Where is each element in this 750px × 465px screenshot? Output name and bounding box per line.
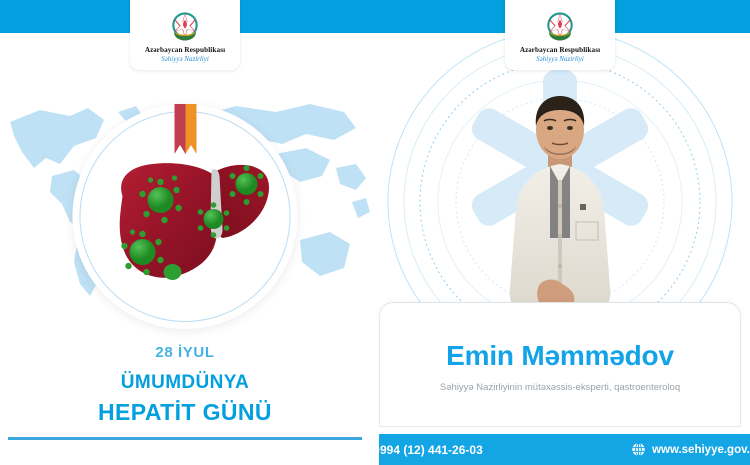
- logo-title-line2: Səhiyyə Nazirliyi: [161, 55, 209, 63]
- poster-pair: 28 İYUL ÜMUMDÜNYA HEPATİT GÜNÜ Azərbayca…: [0, 0, 750, 465]
- left-poster-panel: 28 İYUL ÜMUMDÜNYA HEPATİT GÜNÜ Azərbayca…: [0, 0, 370, 465]
- speaker-name-card: Emin Məmmədov Səhiyyə Nazirliyinin mütəx…: [379, 302, 741, 427]
- right-poster-panel: Emin Məmmədov Səhiyyə Nazirliyinin mütəx…: [370, 0, 750, 465]
- ministry-logo-card-left: Azərbaycan Respublikası Səhiyyə Nazirliy…: [130, 0, 240, 70]
- logo-title-line2: Səhiyyə Nazirliyi: [536, 55, 584, 63]
- event-date-label: 28 İYUL: [0, 344, 370, 361]
- awareness-ribbon-icon: [175, 104, 197, 154]
- event-title-line2: HEPATİT GÜNÜ: [0, 399, 370, 426]
- left-divider-rule: [8, 437, 362, 440]
- doctor-portrait-photo: [484, 88, 636, 318]
- globe-icon: [631, 442, 646, 457]
- azerbaijan-state-emblem-icon: [168, 9, 202, 43]
- event-title-line1: ÜMUMDÜNYA: [0, 372, 370, 394]
- ministry-logo-card-right: Azərbaycan Respublikası Səhiyyə Nazirliy…: [505, 0, 615, 70]
- liver-with-viruses-illustration: [73, 104, 298, 329]
- contact-phone[interactable]: +994 (12) 441-26-03: [373, 443, 483, 457]
- logo-title-line1: Azərbaycan Respublikası: [145, 46, 225, 54]
- contact-website[interactable]: www.sehiyye.gov.az: [652, 444, 750, 456]
- speaker-role: Səhiyyə Nazirliyinin mütəxəssis-eksperti…: [380, 381, 740, 394]
- logo-title-line1: Azərbaycan Respublikası: [520, 46, 600, 54]
- speaker-name: Emin Məmmədov: [380, 340, 740, 372]
- azerbaijan-state-emblem-icon: [543, 9, 577, 43]
- contact-bottom-bar: +994 (12) 441-26-03 www.sehiyye.gov.az: [379, 434, 750, 465]
